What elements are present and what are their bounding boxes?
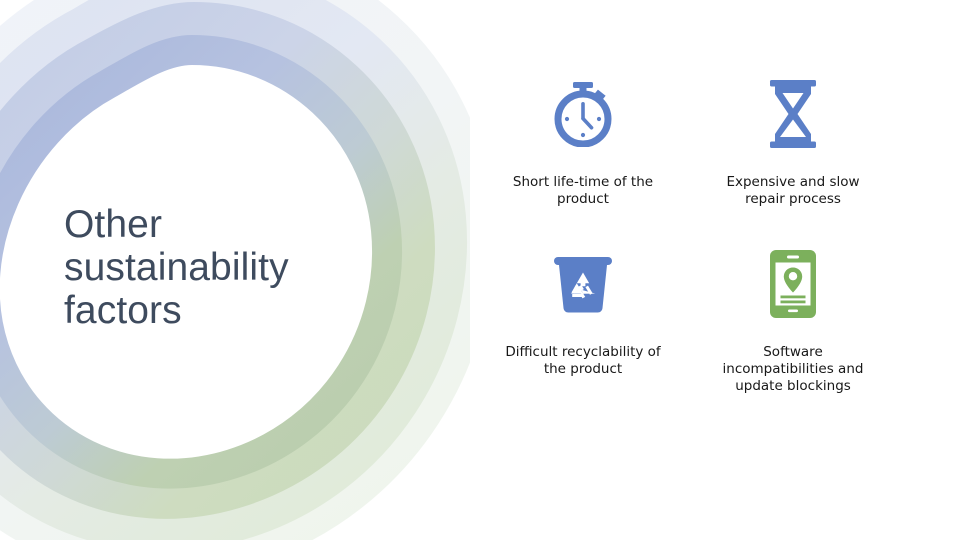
factor-label: Software incompatibilities and update bl…: [698, 344, 888, 395]
factor-item-repair-process[interactable]: Expensive and slow repair process: [688, 76, 898, 246]
factor-label: Expensive and slow repair process: [698, 174, 888, 208]
factor-label: Short life-time of the product: [488, 174, 678, 208]
factor-label: Difficult recyclability of the product: [488, 344, 678, 378]
hourglass-icon: [755, 76, 831, 152]
factor-item-recyclability[interactable]: Difficult recyclability of the product: [478, 246, 688, 416]
smartphone-location-icon: [755, 246, 831, 322]
title-block: Other sustainability factors: [64, 203, 364, 332]
slide-canvas: Other sustainability factors: [0, 0, 960, 540]
factor-item-software-incompatibility[interactable]: Software incompatibilities and update bl…: [688, 246, 898, 416]
recycle-bin-icon: [545, 246, 621, 322]
stopwatch-icon: [545, 76, 621, 152]
factor-item-short-lifetime[interactable]: Short life-time of the product: [478, 76, 688, 246]
page-title: Other sustainability factors: [64, 203, 364, 332]
sustainability-factors-grid: Short life-time of the product Expensive…: [478, 76, 898, 476]
